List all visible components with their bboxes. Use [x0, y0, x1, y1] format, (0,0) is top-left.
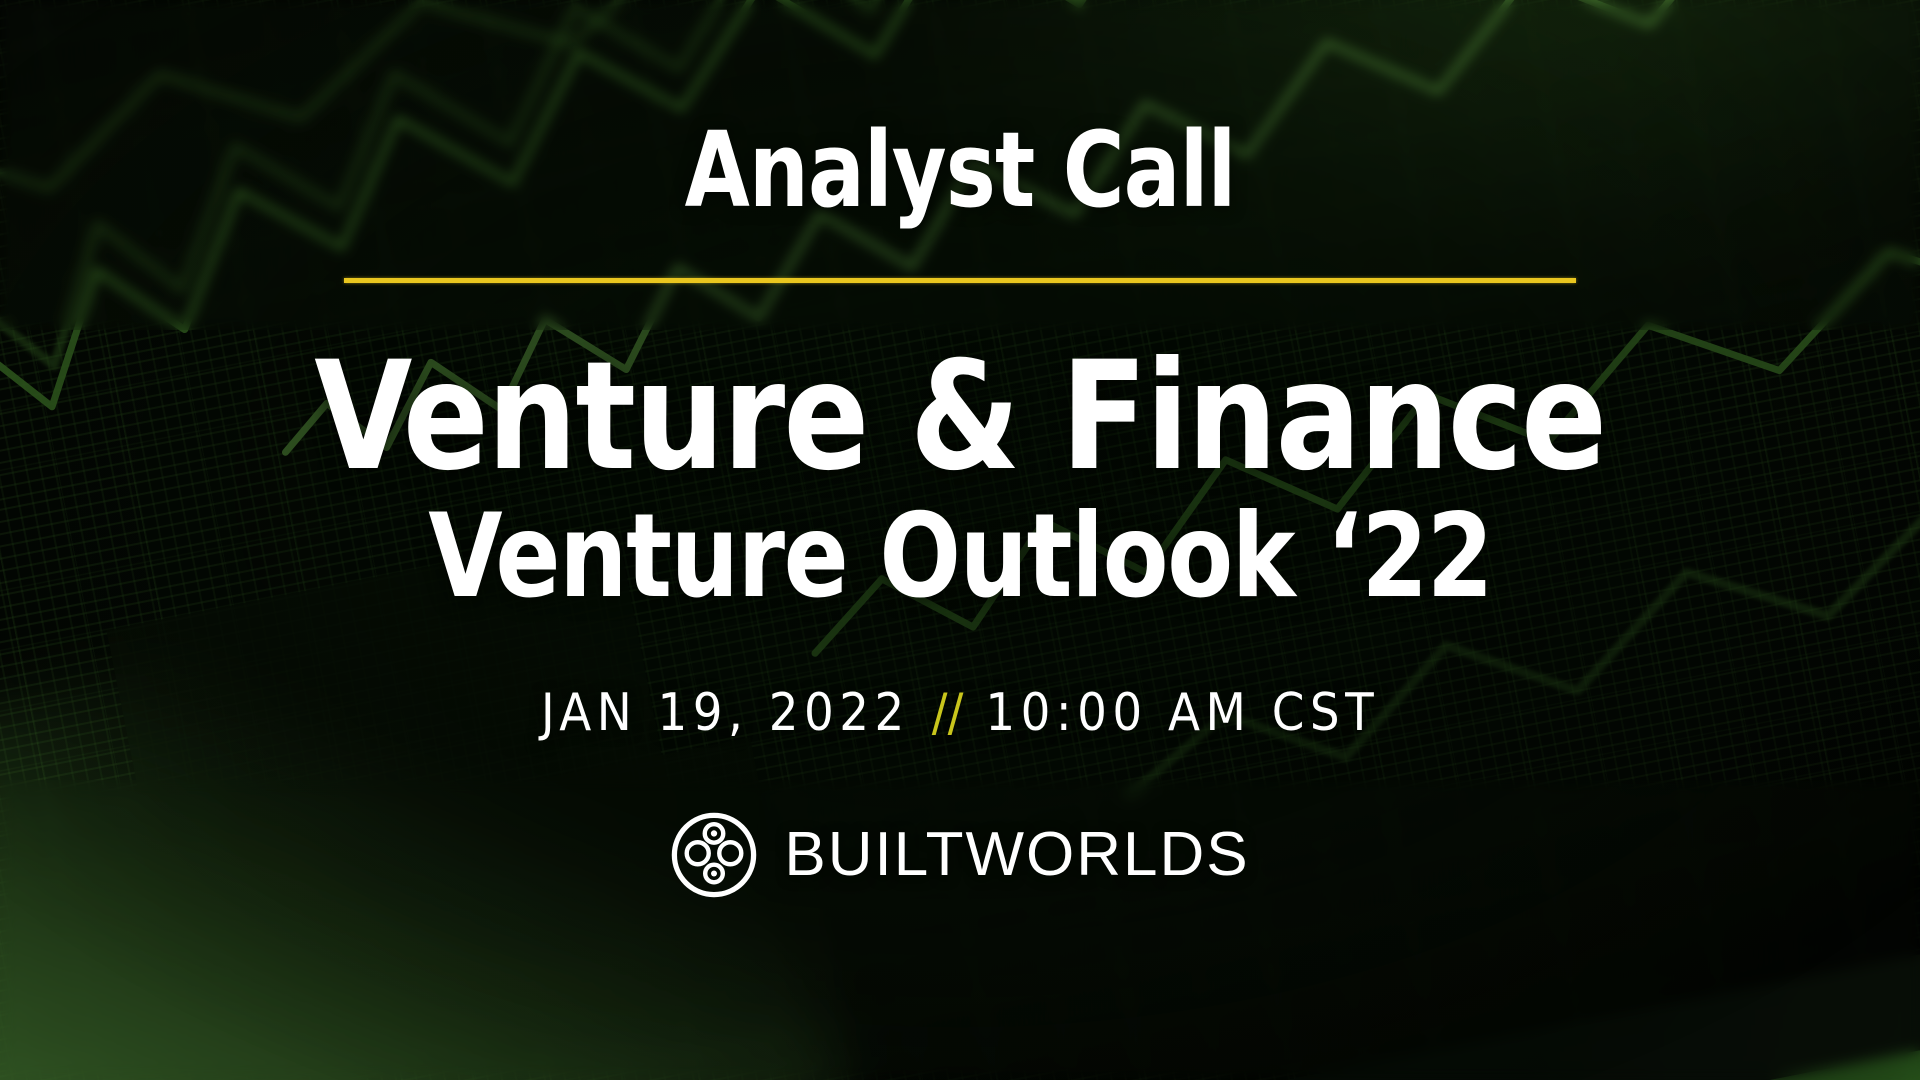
page-subtitle: Venture Outlook ‘22 [428, 499, 1492, 615]
gold-divider [344, 278, 1576, 283]
brand-wordmark: BUILTWORLDS [784, 824, 1249, 886]
builtworlds-circle-dots-icon [670, 811, 758, 899]
page-title: Venture & Finance [314, 345, 1605, 489]
slide-content: Analyst Call Venture & Finance Venture O… [0, 0, 1920, 1080]
event-datetime: JAN 19, 2022 // 10:00 AM CST [541, 687, 1379, 739]
slide-canvas: Analyst Call Venture & Finance Venture O… [0, 0, 1920, 1080]
datetime-separator: // [932, 687, 964, 739]
event-date: JAN 19, 2022 [541, 687, 910, 739]
brand-logo: BUILTWORLDS [670, 811, 1249, 899]
event-time: 10:00 AM CST [985, 687, 1379, 739]
kicker-analyst-call: Analyst Call [685, 118, 1236, 222]
